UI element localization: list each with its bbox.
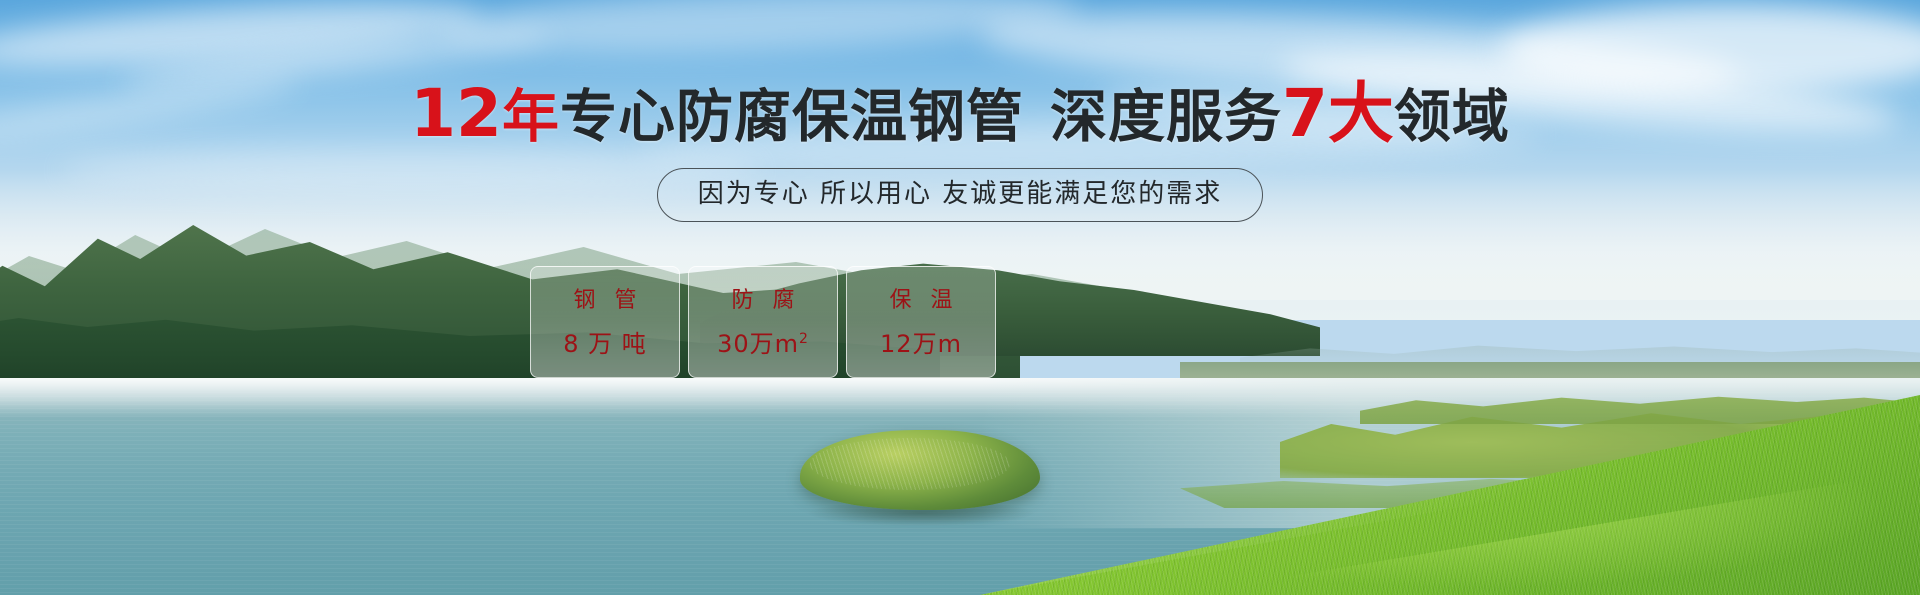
stat-card-label: 保 温 [884, 286, 959, 316]
headline-years-unit: 年 [502, 84, 560, 150]
stat-card-value: 8 万 吨 [563, 330, 647, 358]
stat-card-label: 防 腐 [726, 286, 801, 316]
stat-value-superscript: 2 [799, 331, 809, 347]
headline-main-text: 专心防腐保温钢管 [560, 84, 1024, 150]
headline-seven-fields: 7大 [1282, 75, 1394, 152]
banner-subtitle: 因为专心 所以用心 友诚更能满足您的需求 [657, 168, 1264, 222]
stats-card-group: 钢 管 8 万 吨 防 腐 30万m2 保 温 12万m [530, 266, 996, 378]
stat-card-steel-pipe[interactable]: 钢 管 8 万 吨 [530, 266, 680, 378]
banner-headline: 12年专心防腐保温钢管深度服务7大领域 [0, 84, 1920, 147]
grass-island [800, 430, 1040, 510]
hero-banner: 12年专心防腐保温钢管深度服务7大领域 因为专心 所以用心 友诚更能满足您的需求… [0, 0, 1920, 595]
stat-value-text: 12万m [880, 330, 962, 358]
headline-service-text: 深度服务 [1050, 84, 1282, 150]
stat-card-insulation[interactable]: 保 温 12万m [846, 266, 996, 378]
headline-fields-text: 领域 [1394, 84, 1510, 150]
headline-years-number: 12 [410, 75, 502, 152]
stat-value-text: 8 万 吨 [563, 330, 647, 358]
banner-subtitle-wrap: 因为专心 所以用心 友诚更能满足您的需求 [0, 168, 1920, 222]
stat-card-value: 30万m2 [717, 330, 809, 358]
stat-value-text: 30万m [717, 330, 799, 358]
stat-card-value: 12万m [880, 330, 962, 358]
stat-card-anticorrosion[interactable]: 防 腐 30万m2 [688, 266, 838, 378]
stat-card-label: 钢 管 [568, 286, 643, 316]
